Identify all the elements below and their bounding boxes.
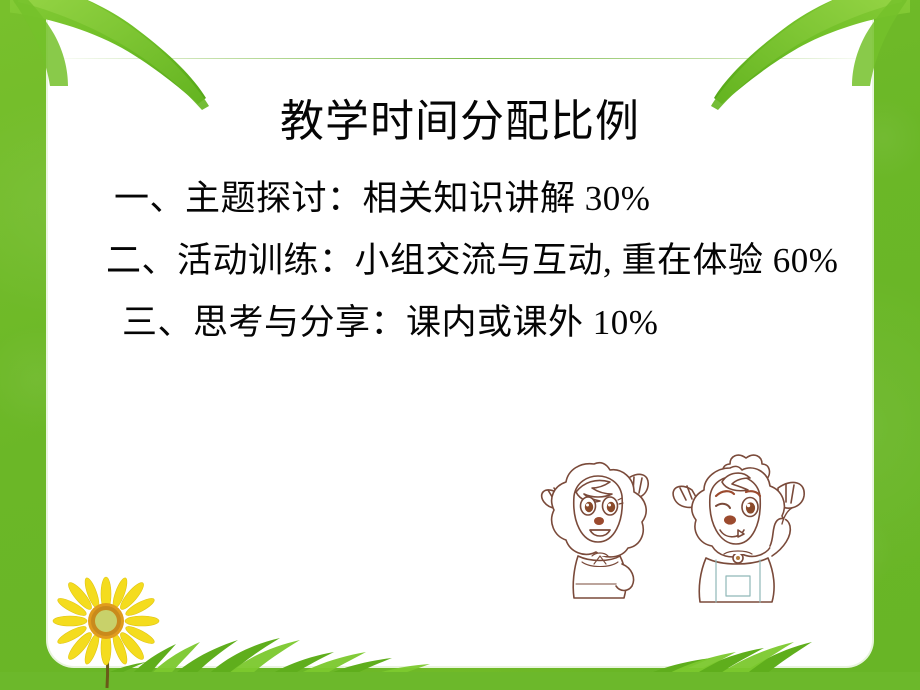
list-item: 三、思考与分享：课内或课外 10% — [96, 292, 886, 354]
list-item: 二、活动训练：小组交流与互动, 重在体验 60% — [96, 230, 886, 292]
list-item: 一、主题探讨：相关知识讲解 30% — [96, 168, 886, 230]
page-title: 教学时间分配比例 — [48, 96, 872, 148]
content-list: 一、主题探讨：相关知识讲解 30% 二、活动训练：小组交流与互动, 重在体验 6… — [96, 168, 886, 354]
presentation-slide: 教学时间分配比例 一、主题探讨：相关知识讲解 30% 二、活动训练：小组交流与互… — [0, 0, 920, 690]
title-divider-line — [60, 58, 860, 59]
